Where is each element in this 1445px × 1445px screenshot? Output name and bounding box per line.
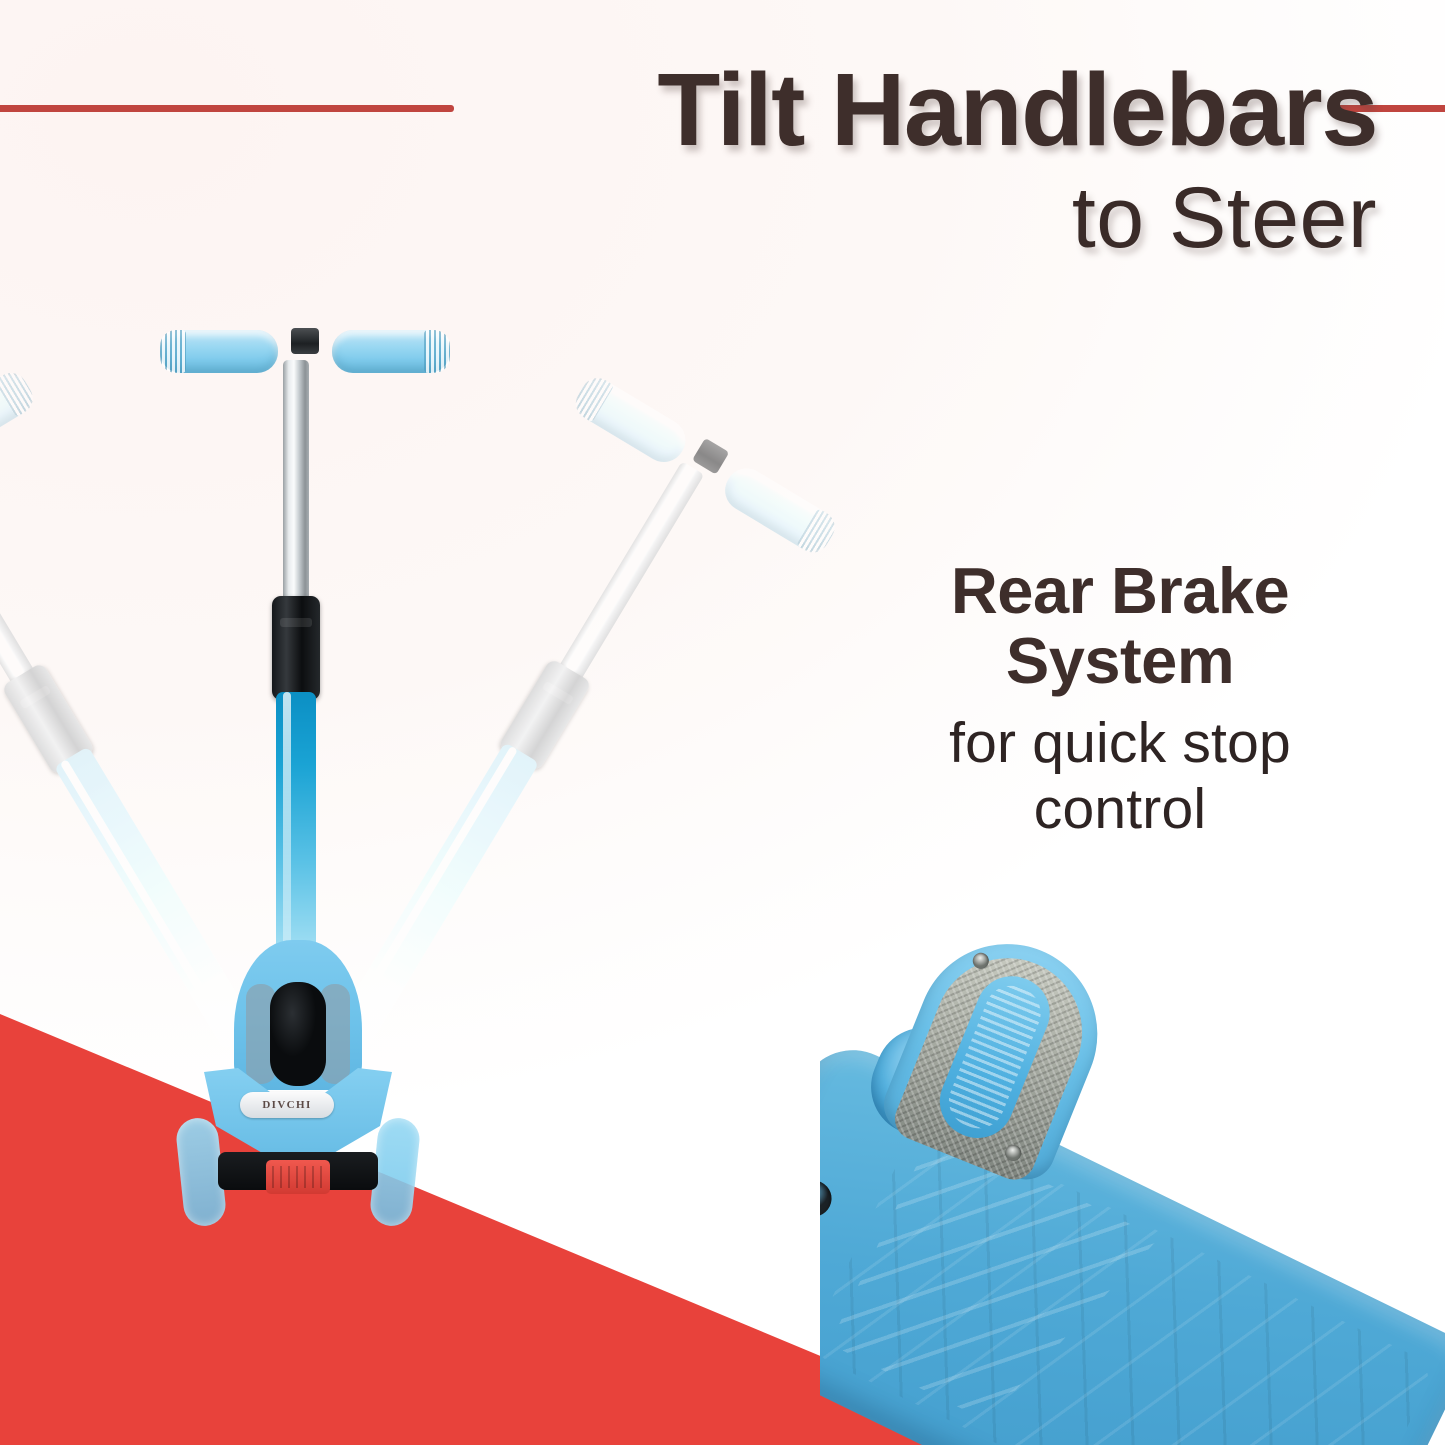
height-adjust-clamp <box>272 596 320 700</box>
headline-line-1: Tilt Handlebars <box>0 58 1377 162</box>
brake-closeup-photo <box>820 920 1445 1445</box>
rear-brake-red <box>266 1160 330 1194</box>
scooter-upright: DIVCHI <box>0 300 900 1250</box>
brand-logo: DIVCHI <box>240 1092 334 1118</box>
scooter-illustration: DIVCHI <box>0 300 900 1250</box>
deck-nose-hole <box>820 1174 838 1222</box>
grip-left-icon <box>160 330 278 373</box>
base-dark-core <box>270 982 326 1086</box>
stem-top-clamp <box>291 328 319 354</box>
brand-logo-text: DIVCHI <box>262 1099 311 1111</box>
scooter-base: DIVCHI <box>188 940 408 1190</box>
stem-chrome-tube <box>283 360 309 610</box>
grip-right-icon <box>332 330 450 373</box>
marketing-banner: Tilt Handlebars to Steer Rear Brake Syst… <box>0 0 1445 1445</box>
